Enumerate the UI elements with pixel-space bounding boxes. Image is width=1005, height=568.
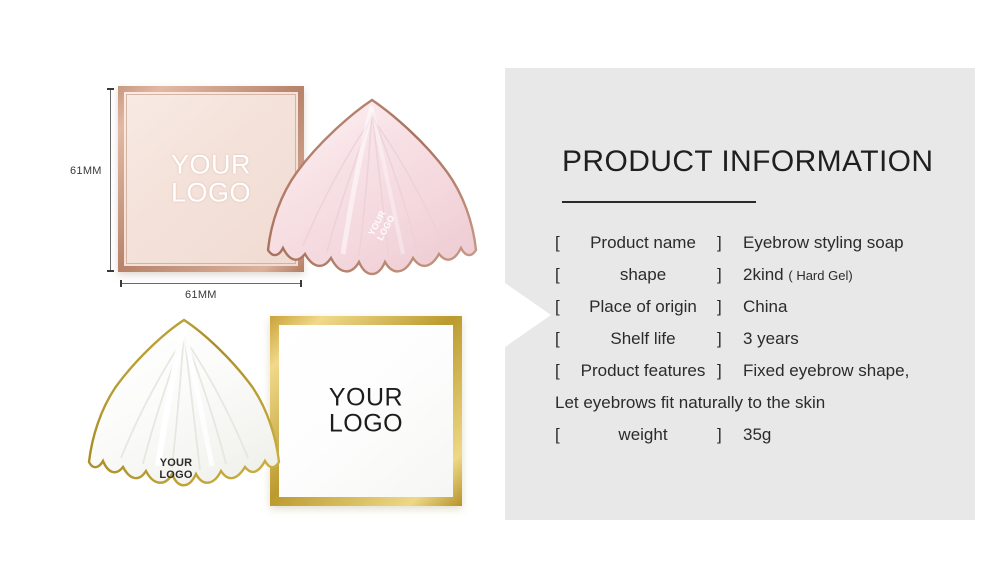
- bracket-left: [: [555, 425, 560, 445]
- pink-shell-soap: YOUR LOGO: [265, 98, 480, 294]
- spec-value: Fixed eyebrow shape,: [743, 361, 909, 381]
- spec-row-place-of-origin: [ Place of origin ] China: [555, 297, 975, 329]
- width-dimension-line: [120, 283, 302, 284]
- width-dimension-label: 61MM: [185, 289, 217, 301]
- height-dimension-cap-bottom: [107, 270, 114, 272]
- width-dimension-cap-left: [120, 280, 122, 287]
- product-information-panel: PRODUCT INFORMATION [ Product name ] Eye…: [505, 68, 975, 520]
- spec-value: 35g: [743, 425, 771, 445]
- bracket-right: ]: [717, 329, 722, 349]
- width-dimension-cap-right: [300, 280, 302, 287]
- gold-box-logo: YOUR LOGO: [279, 386, 453, 437]
- gold-box-logo-line1: YOUR: [279, 386, 453, 412]
- spec-label: shape: [567, 265, 719, 285]
- spec-label: Shelf life: [567, 329, 719, 349]
- pink-shell-graphic: [265, 98, 480, 294]
- spec-value: Eyebrow styling soap: [743, 233, 904, 253]
- spec-value-note: ( Hard Gel): [788, 268, 852, 283]
- page-title: PRODUCT INFORMATION: [562, 145, 933, 179]
- spec-value: 2kind ( Hard Gel): [743, 265, 853, 285]
- spec-label: Product name: [567, 233, 719, 253]
- gold-box-face: YOUR LOGO: [279, 325, 453, 497]
- bracket-left: [: [555, 361, 560, 381]
- bracket-left: [: [555, 297, 560, 317]
- height-dimension-cap-top: [107, 88, 114, 90]
- product-information-graphic: YOUR LOGO YOUR LOGO: [0, 0, 1005, 568]
- title-underline-rule: [562, 201, 756, 203]
- bracket-left: [: [555, 265, 560, 285]
- spec-row-shelf-life: [ Shelf life ] 3 years: [555, 329, 975, 361]
- bracket-right: ]: [717, 265, 722, 285]
- spec-value: China: [743, 297, 787, 317]
- spec-value: 3 years: [743, 329, 799, 349]
- bracket-left: [: [555, 329, 560, 349]
- white-shell-logo: YOUR LOGO: [136, 458, 216, 482]
- white-shell-logo-line2: LOGO: [136, 470, 216, 482]
- spec-row-product-name: [ Product name ] Eyebrow styling soap: [555, 233, 975, 265]
- height-dimension-line: [110, 88, 111, 272]
- bracket-right: ]: [717, 361, 722, 381]
- spec-label: Product features: [567, 361, 719, 381]
- gold-box-logo-line2: LOGO: [279, 411, 453, 437]
- spec-row-weight: [ weight ] 35g: [555, 425, 975, 457]
- specification-list: [ Product name ] Eyebrow styling soap [ …: [555, 233, 975, 457]
- features-continuation-text: Let eyebrows fit naturally to the skin: [555, 393, 975, 425]
- gold-gift-box: YOUR LOGO: [270, 316, 462, 506]
- white-shell-soap: YOUR LOGO: [86, 318, 282, 504]
- spec-value-main: 2kind: [743, 265, 784, 284]
- spec-row-product-features: [ Product features ] Fixed eyebrow shape…: [555, 361, 975, 393]
- bracket-right: ]: [717, 297, 722, 317]
- bracket-left: [: [555, 233, 560, 253]
- spec-label: weight: [567, 425, 719, 445]
- spec-label: Place of origin: [567, 297, 719, 317]
- bracket-right: ]: [717, 233, 722, 253]
- height-dimension-label: 61MM: [70, 165, 102, 177]
- product-photo-area: YOUR LOGO YOUR LOGO: [0, 0, 505, 568]
- bracket-right: ]: [717, 425, 722, 445]
- spec-row-shape: [ shape ] 2kind ( Hard Gel): [555, 265, 975, 297]
